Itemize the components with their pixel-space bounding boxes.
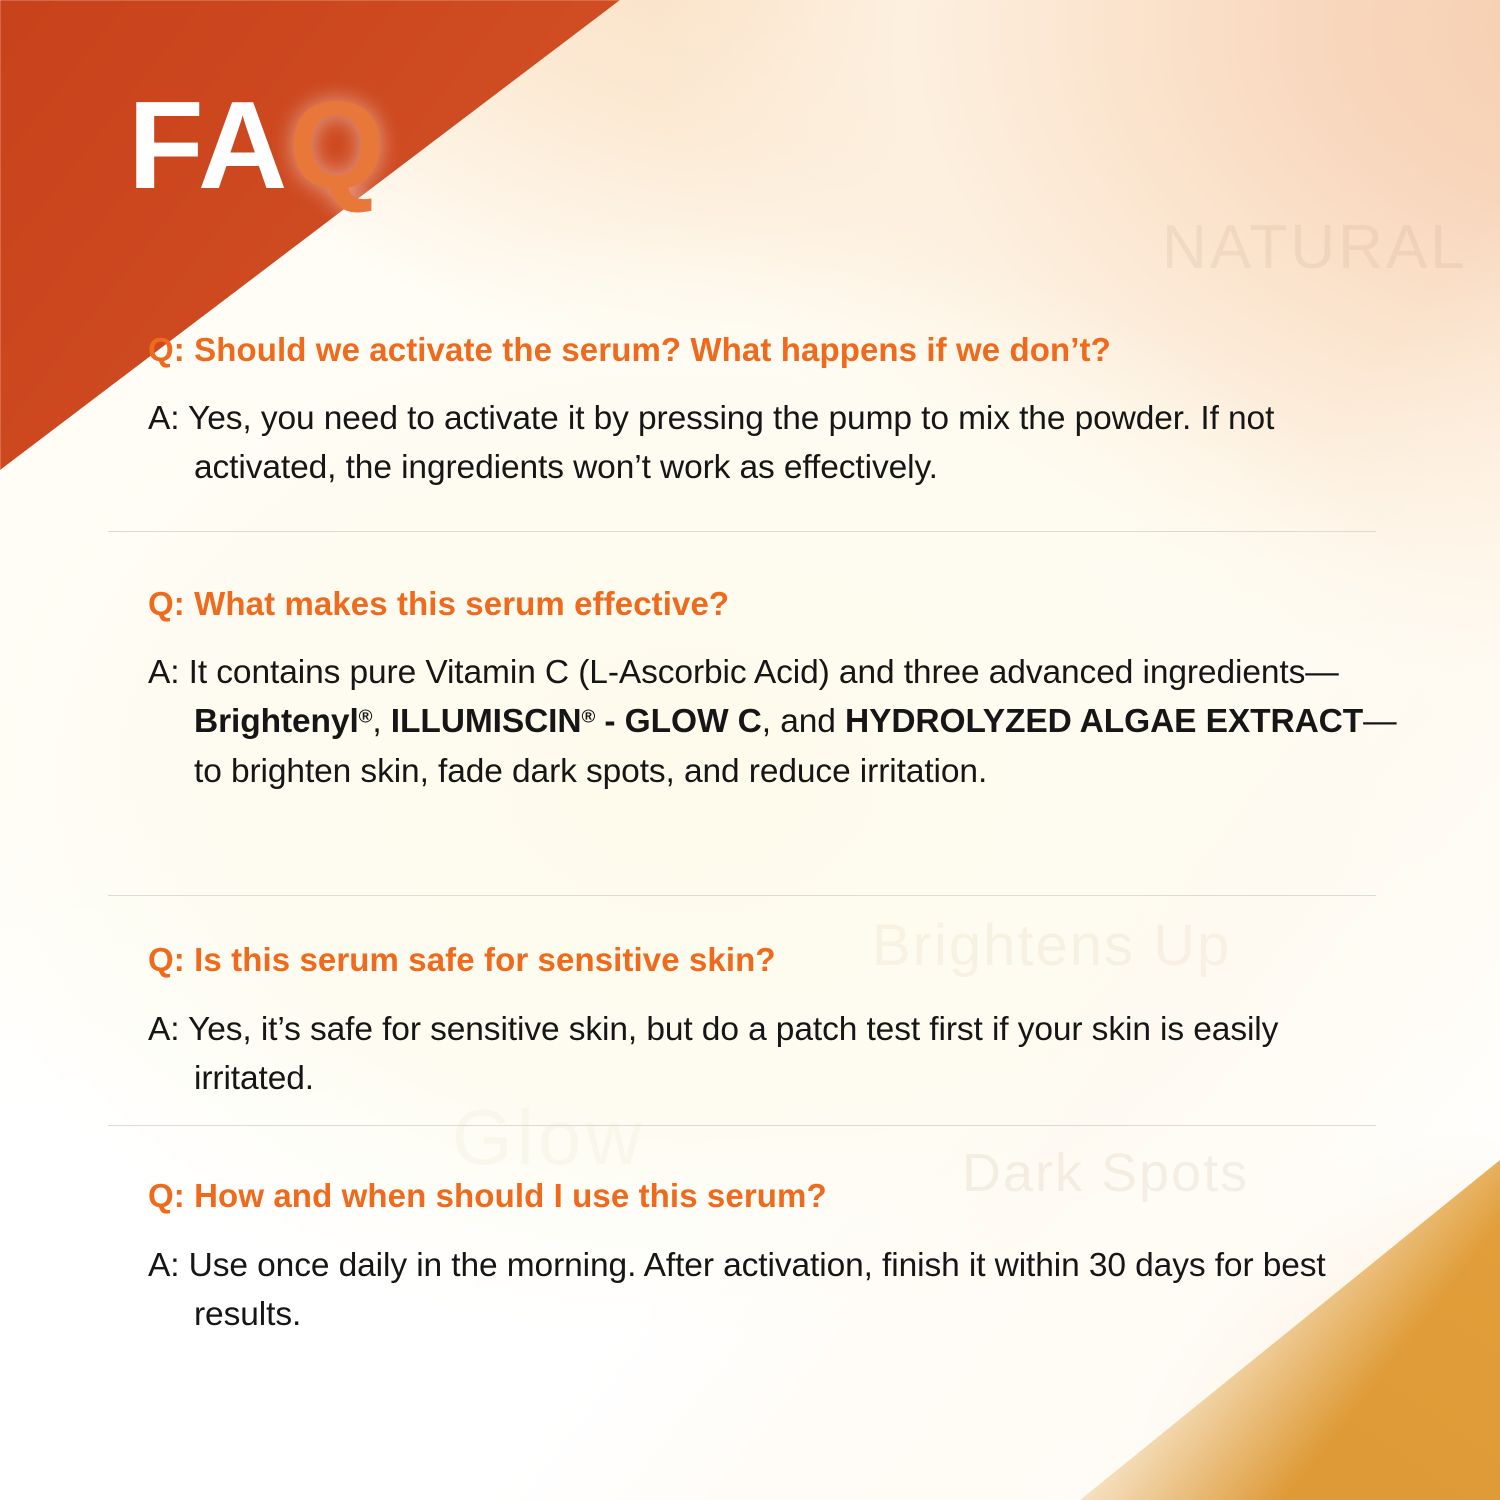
faq-graphic-canvas: NATURAL Glow Brightens Up Dark Spots FAQ…	[0, 0, 1500, 1500]
faq-item: Q: How and when should I use this serum?…	[148, 1176, 1400, 1340]
faq-question: Q: Should we activate the serum? What ha…	[148, 330, 1400, 370]
faq-question: Q: How and when should I use this serum?	[148, 1176, 1400, 1216]
faq-answer: A: Yes, it’s safe for sensitive skin, bu…	[148, 1005, 1400, 1104]
faq-question: Q: Is this serum safe for sensitive skin…	[148, 940, 1400, 980]
faq-divider	[108, 1125, 1376, 1126]
page-title-q: Q	[288, 77, 385, 215]
faq-item: Q: What makes this serum effective? A: I…	[148, 584, 1400, 796]
watermark-natural: NATURAL	[1162, 212, 1468, 283]
faq-question: Q: What makes this serum effective?	[148, 584, 1400, 624]
faq-answer: A: Use once daily in the morning. After …	[148, 1241, 1400, 1340]
faq-answer: A: It contains pure Vitamin C (L-Ascorbi…	[148, 648, 1400, 797]
faq-divider	[108, 895, 1376, 896]
faq-item: Q: Is this serum safe for sensitive skin…	[148, 940, 1400, 1104]
page-title-fa: FA	[128, 77, 288, 215]
faq-divider	[108, 531, 1376, 532]
faq-item: Q: Should we activate the serum? What ha…	[148, 330, 1400, 493]
page-title: FAQ	[128, 84, 386, 208]
faq-answer: A: Yes, you need to activate it by press…	[148, 394, 1400, 493]
watermark-glow: Glow	[452, 1092, 646, 1183]
